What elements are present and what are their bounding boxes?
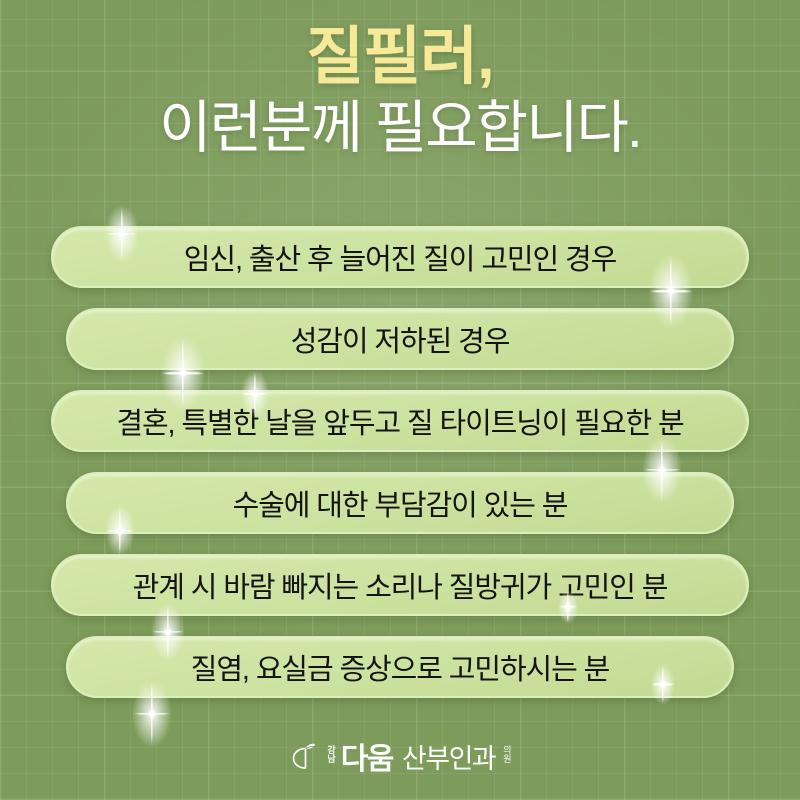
benefit-pill-label: 수술에 대한 부담감이 있는 분 bbox=[233, 482, 568, 524]
benefit-pill-label: 결혼, 특별한 날을 앞두고 질 타이트닝이 필요한 분 bbox=[116, 400, 683, 442]
promo-card: 질필러, 이런분께 필요합니다. 임신, 출산 후 늘어진 질이 고민인 경우성… bbox=[0, 0, 800, 800]
benefit-pill: 관계 시 바람 빠지는 소리나 질방귀가 고민인 분 bbox=[51, 554, 749, 616]
logo-department: 산부인과 bbox=[402, 737, 495, 776]
page-title: 질필러, 이런분께 필요합니다. bbox=[0, 26, 800, 157]
clinic-logo: 강 남 다움 산부인과 의 원 bbox=[0, 734, 800, 778]
apple-leaf-icon bbox=[288, 739, 322, 773]
logo-prefix: 강 남 bbox=[327, 746, 335, 766]
title-accent-line: 질필러, bbox=[0, 26, 800, 89]
logo-brand-name: 다움 bbox=[341, 734, 393, 778]
benefit-pill-label: 성감이 저하된 경우 bbox=[291, 318, 510, 360]
benefit-list: 임신, 출산 후 늘어진 질이 고민인 경우성감이 저하된 경우결혼, 특별한 … bbox=[0, 226, 800, 718]
benefit-pill: 임신, 출산 후 늘어진 질이 고민인 경우 bbox=[51, 226, 749, 288]
benefit-pill: 수술에 대한 부담감이 있는 분 bbox=[66, 472, 734, 534]
benefit-pill: 질염, 요실금 증상으로 고민하시는 분 bbox=[66, 636, 734, 698]
benefit-pill-label: 관계 시 바람 빠지는 소리나 질방귀가 고민인 분 bbox=[133, 564, 668, 606]
logo-suffix: 의 원 bbox=[503, 746, 511, 767]
benefit-pill: 성감이 저하된 경우 bbox=[66, 308, 734, 370]
logo-prefix-char-2: 남 bbox=[327, 755, 335, 764]
logo-suffix-char-2: 원 bbox=[503, 755, 511, 764]
title-sub-line: 이런분께 필요합니다. bbox=[0, 100, 800, 157]
benefit-pill-label: 임신, 출산 후 늘어진 질이 고민인 경우 bbox=[184, 236, 616, 278]
benefit-pill: 결혼, 특별한 날을 앞두고 질 타이트닝이 필요한 분 bbox=[51, 390, 749, 452]
benefit-pill-label: 질염, 요실금 증상으로 고민하시는 분 bbox=[191, 646, 610, 688]
